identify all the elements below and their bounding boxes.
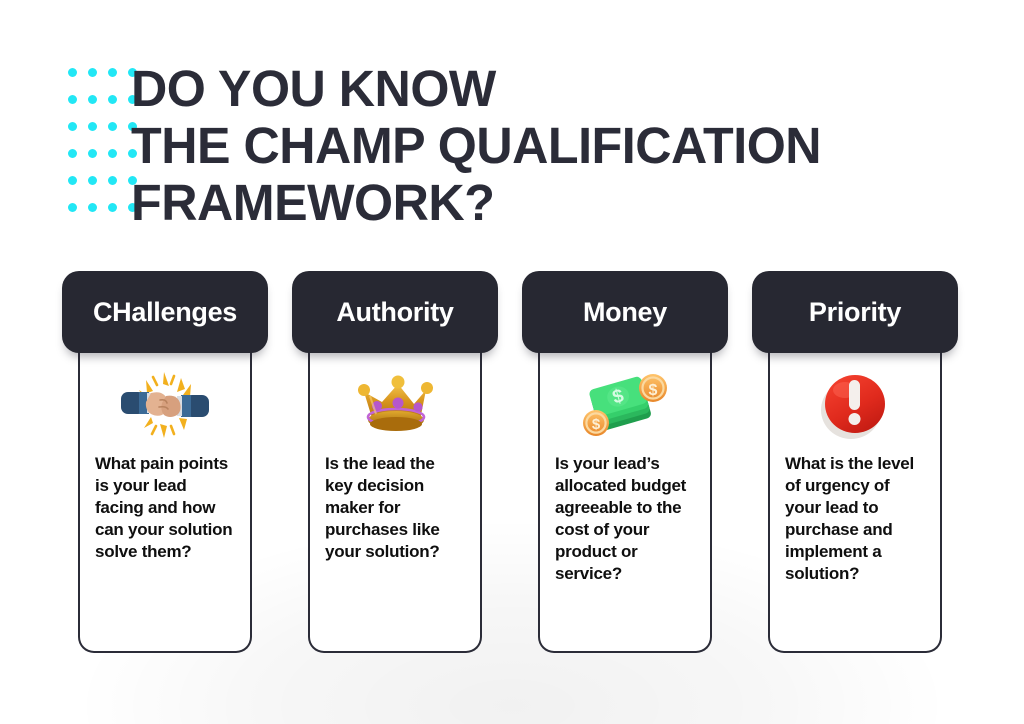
- champ-card-row: CHallenges: [0, 0, 1024, 724]
- svg-text:$: $: [649, 382, 658, 399]
- card-title: CHallenges: [93, 297, 237, 327]
- card-description: Is your lead’s allocated budget agreeabl…: [555, 453, 695, 585]
- card-challenges[interactable]: CHallenges: [62, 271, 268, 653]
- card-description: What pain points is your lead facing and…: [95, 453, 235, 563]
- card-description: What is the level of urgency of your lea…: [785, 453, 925, 585]
- svg-text:$: $: [592, 416, 601, 433]
- card-header-money: Money: [522, 271, 728, 353]
- card-title: Authority: [336, 297, 453, 327]
- card-title: Money: [583, 297, 667, 327]
- card-body-challenges: What pain points is your lead facing and…: [78, 345, 252, 653]
- card-description: Is the lead the key decision maker for p…: [325, 453, 465, 563]
- fist-bump-icon: [95, 363, 235, 447]
- card-header-priority: Priority: [752, 271, 958, 353]
- money-stack-icon: $ $ $: [555, 363, 695, 447]
- card-money[interactable]: Money $: [522, 271, 728, 653]
- crown-icon: [325, 363, 465, 447]
- card-title: Priority: [809, 297, 901, 327]
- exclamation-mark-icon: [785, 363, 925, 447]
- card-header-challenges: CHallenges: [62, 271, 268, 353]
- card-authority[interactable]: Authority: [292, 271, 498, 653]
- card-body-priority: What is the level of urgency of your lea…: [768, 345, 942, 653]
- card-priority[interactable]: Priority: [752, 271, 958, 653]
- card-header-authority: Authority: [292, 271, 498, 353]
- card-body-money: $ $ $ Is your lead’s allocated budget ag…: [538, 345, 712, 653]
- card-body-authority: Is the lead the key decision maker for p…: [308, 345, 482, 653]
